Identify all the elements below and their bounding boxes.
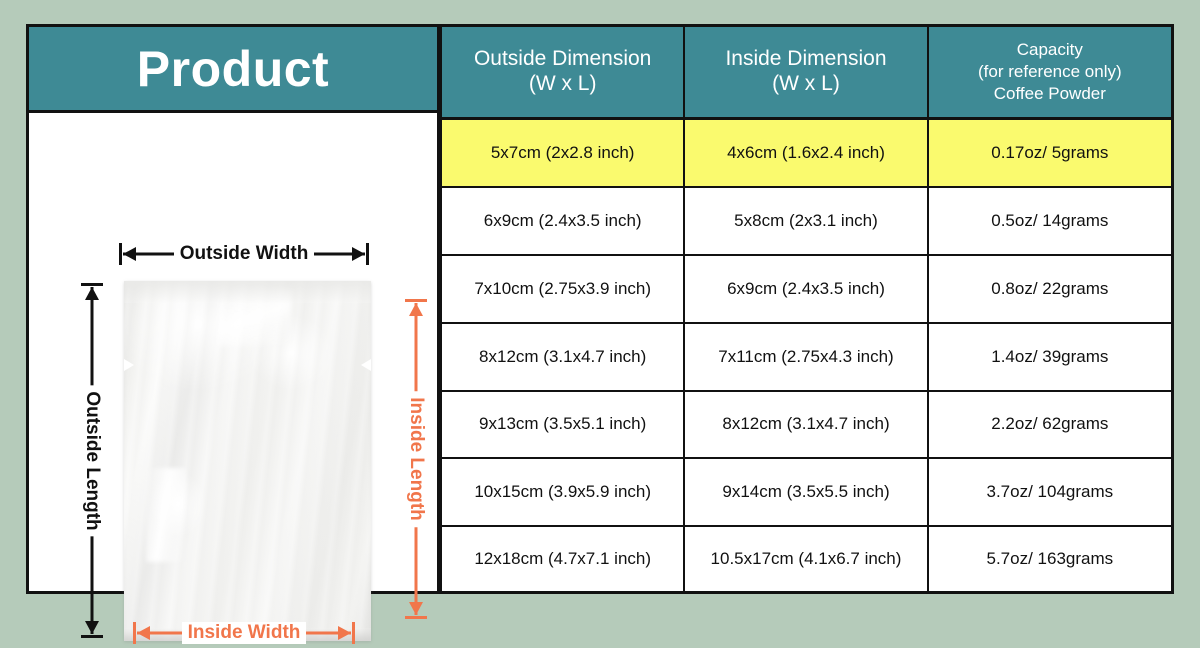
arrow-left-icon	[137, 626, 150, 640]
dimension-cap-right	[366, 243, 369, 265]
cell-capacity: 0.8oz/ 22grams	[928, 255, 1171, 323]
table-header-row: Outside Dimension (W x L) Inside Dimensi…	[441, 27, 1171, 119]
column-header-subtitle: (W x L)	[690, 72, 921, 97]
outside-width-dimension: Outside Width	[119, 239, 369, 269]
arrow-up-icon	[409, 303, 423, 316]
cell-inside-dimension: 10.5x17cm (4.1x6.7 inch)	[684, 526, 927, 591]
product-panel: Product Outside Width Outside Length	[29, 27, 440, 591]
table-row[interactable]: 9x13cm (3.5x5.1 inch)8x12cm (3.1x4.7 inc…	[441, 391, 1171, 459]
inside-length-label: Inside Length	[402, 391, 430, 527]
cell-outside-dimension: 8x12cm (3.1x4.7 inch)	[441, 323, 684, 391]
table-row[interactable]: 5x7cm (2x2.8 inch)4x6cm (1.6x2.4 inch)0.…	[441, 119, 1171, 188]
outside-length-label: Outside Length	[78, 385, 106, 536]
dimension-cap-bottom	[81, 635, 103, 638]
cell-inside-dimension: 8x12cm (3.1x4.7 inch)	[684, 391, 927, 459]
table-row[interactable]: 6x9cm (2.4x3.5 inch)5x8cm (2x3.1 inch)0.…	[441, 187, 1171, 255]
arrow-down-icon	[409, 602, 423, 615]
dimension-cap-right	[352, 622, 355, 644]
inside-length-dimension: Inside Length	[401, 299, 431, 619]
column-header-subtitle: (W x L)	[447, 72, 678, 97]
cell-outside-dimension: 5x7cm (2x2.8 inch)	[441, 119, 684, 188]
tear-notch-left-icon	[124, 359, 134, 371]
cell-capacity: 0.5oz/ 14grams	[928, 187, 1171, 255]
cell-capacity: 5.7oz/ 163grams	[928, 526, 1171, 591]
column-header-title: Inside Dimension	[690, 47, 921, 72]
arrow-right-icon	[352, 247, 365, 261]
cell-inside-dimension: 5x8cm (2x3.1 inch)	[684, 187, 927, 255]
dimension-cap-left	[119, 243, 122, 265]
dimension-cap-left	[133, 622, 136, 644]
product-spec-sheet: Product Outside Width Outside Length	[26, 24, 1174, 594]
cell-inside-dimension: 9x14cm (3.5x5.5 inch)	[684, 458, 927, 526]
table-row[interactable]: 10x15cm (3.9x5.9 inch)9x14cm (3.5x5.5 in…	[441, 458, 1171, 526]
column-header-subtitle: (for reference only)	[934, 61, 1166, 83]
table-row[interactable]: 12x18cm (4.7x7.1 inch)10.5x17cm (4.1x6.7…	[441, 526, 1171, 591]
pouch-top-seal	[124, 281, 371, 303]
cell-capacity: 2.2oz/ 62grams	[928, 391, 1171, 459]
specification-table-wrapper: Outside Dimension (W x L) Inside Dimensi…	[440, 27, 1171, 591]
cell-inside-dimension: 7x11cm (2.75x4.3 inch)	[684, 323, 927, 391]
inside-width-label: Inside Width	[182, 622, 307, 644]
product-title: Product	[137, 44, 329, 94]
cell-outside-dimension: 6x9cm (2.4x3.5 inch)	[441, 187, 684, 255]
tear-notch-right-icon	[361, 359, 371, 371]
arrow-right-icon	[338, 626, 351, 640]
product-header: Product	[29, 27, 437, 113]
cell-capacity: 1.4oz/ 39grams	[928, 323, 1171, 391]
outside-length-dimension: Outside Length	[77, 283, 107, 638]
outside-width-label: Outside Width	[174, 243, 315, 265]
dimension-cap-top	[81, 283, 103, 286]
dimension-cap-top	[405, 299, 427, 302]
table-header: Outside Dimension (W x L) Inside Dimensi…	[441, 27, 1171, 119]
pouch-highlight-streak	[146, 468, 186, 562]
column-header-title: Outside Dimension	[447, 47, 678, 72]
column-header-title: Capacity	[934, 39, 1166, 61]
cell-inside-dimension: 6x9cm (2.4x3.5 inch)	[684, 255, 927, 323]
arrow-up-icon	[85, 287, 99, 300]
specification-table: Outside Dimension (W x L) Inside Dimensi…	[440, 27, 1171, 591]
table-body: 5x7cm (2x2.8 inch)4x6cm (1.6x2.4 inch)0.…	[441, 119, 1171, 592]
cell-outside-dimension: 12x18cm (4.7x7.1 inch)	[441, 526, 684, 591]
column-header-inside-dimension: Inside Dimension (W x L)	[684, 27, 927, 119]
column-header-extra: Coffee Powder	[934, 83, 1166, 105]
cell-outside-dimension: 9x13cm (3.5x5.1 inch)	[441, 391, 684, 459]
arrow-left-icon	[123, 247, 136, 261]
cell-capacity: 0.17oz/ 5grams	[928, 119, 1171, 188]
column-header-outside-dimension: Outside Dimension (W x L)	[441, 27, 684, 119]
product-diagram: Outside Width Outside Length	[29, 113, 437, 591]
arrow-down-icon	[85, 621, 99, 634]
cell-outside-dimension: 10x15cm (3.9x5.9 inch)	[441, 458, 684, 526]
table-row[interactable]: 8x12cm (3.1x4.7 inch)7x11cm (2.75x4.3 in…	[441, 323, 1171, 391]
cell-outside-dimension: 7x10cm (2.75x3.9 inch)	[441, 255, 684, 323]
column-header-capacity: Capacity (for reference only) Coffee Pow…	[928, 27, 1171, 119]
inside-width-dimension: Inside Width	[133, 618, 355, 648]
table-row[interactable]: 7x10cm (2.75x3.9 inch)6x9cm (2.4x3.5 inc…	[441, 255, 1171, 323]
product-pouch-image	[124, 281, 371, 641]
cell-capacity: 3.7oz/ 104grams	[928, 458, 1171, 526]
cell-inside-dimension: 4x6cm (1.6x2.4 inch)	[684, 119, 927, 188]
